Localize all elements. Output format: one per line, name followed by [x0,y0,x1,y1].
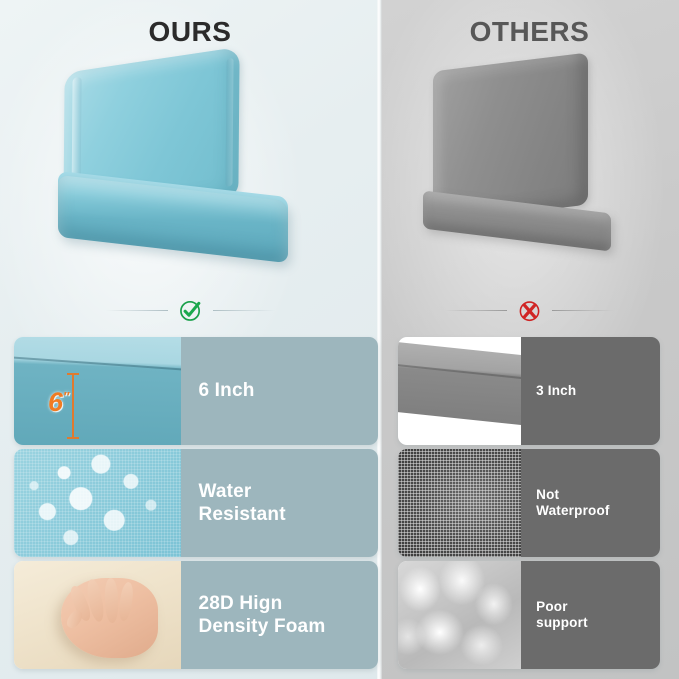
water-droplet-texture [14,449,181,557]
dimension-label: 6″ [48,387,69,418]
others-title: OTHERS [380,16,679,48]
ours-feature-row-1: 6″ 6 Inch [14,337,378,445]
ours-label-panel-3: 28D Hign Density Foam [181,561,378,669]
ours-feature-label-3: 28D Hign Density Foam [198,592,325,638]
gray-cushion-corner-shape [398,341,521,431]
check-circle-icon [177,297,204,324]
ours-label-panel-2: Water Resistant [181,449,378,557]
rule-left [106,310,168,311]
others-product-image [415,60,630,290]
others-label-panel-2: Not Waterproof [521,449,660,557]
others-thumb-fiberfill [398,561,521,669]
others-label-panel-3: Poor support [521,561,660,669]
others-feature-label-2: Not Waterproof [536,487,610,520]
x-circle-icon [516,297,543,324]
hand-icon [61,578,158,658]
ours-feature-row-3: 28D Hign Density Foam [14,561,378,669]
others-thumb-mesh [398,449,521,557]
mesh-fabric-texture [398,449,521,557]
ours-thumb-foam [14,561,181,669]
ours-thumb-water [14,449,181,557]
rule-right [213,310,275,311]
ours-title: OURS [0,16,380,48]
others-feature-row-2: Not Waterproof [398,449,660,557]
others-feature-row-1: 3 Inch [398,337,660,445]
others-thumb-thickness [398,337,521,445]
others-feature-label-1: 3 Inch [536,383,576,399]
others-label-panel-1: 3 Inch [521,337,660,445]
comparison-infographic: OURS OTHERS 6″ 6 Inch [0,0,679,679]
rule-right [552,310,614,311]
ours-thumb-thickness: 6″ [14,337,181,445]
ours-verdict-row [0,296,380,324]
finger [104,578,118,623]
ours-label-panel-1: 6 Inch [181,337,378,445]
ours-feature-row-2: Water Resistant [14,449,378,557]
fiberfill-texture [398,561,521,669]
others-feature-label-3: Poor support [536,599,588,632]
ours-product-image [52,60,322,290]
ours-feature-label-1: 6 Inch [198,379,254,402]
ours-feature-label-2: Water Resistant [198,480,285,526]
others-verdict-row [380,296,679,324]
ours-seat-cushion [58,175,288,263]
cushion-corner-shape [14,337,181,445]
finger [117,582,134,622]
dimension-line [72,373,74,439]
rule-left [445,310,507,311]
others-feature-row-3: Poor support [398,561,660,669]
